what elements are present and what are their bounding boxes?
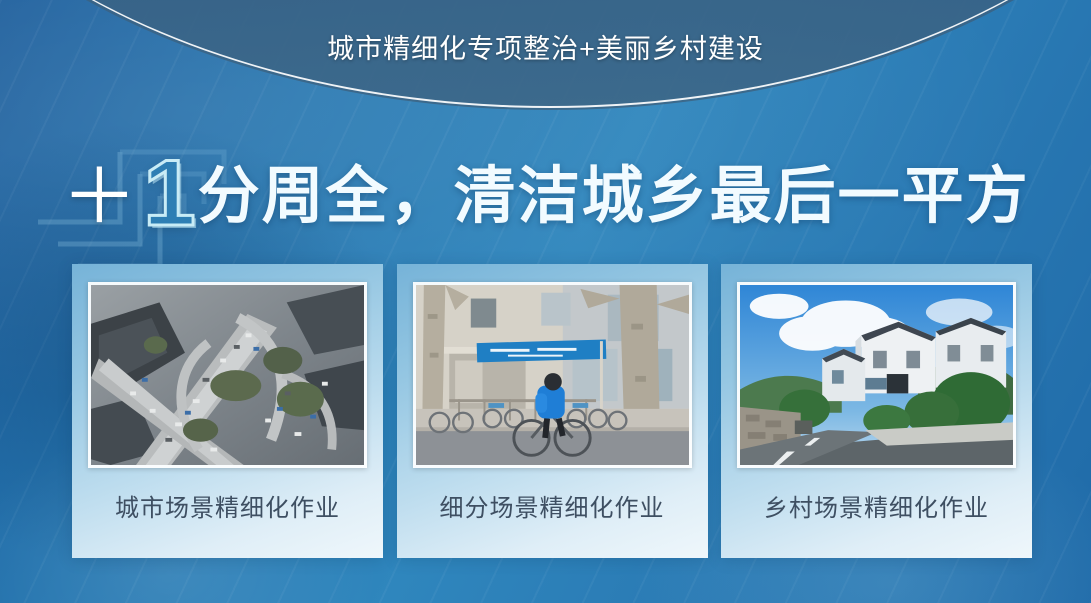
slide-root: 城市精细化专项整治+美丽乡村建设 ＋1分周全，清洁城乡最后一平方: [0, 0, 1091, 603]
headline: ＋1分周全，清洁城乡最后一平方: [0, 146, 1091, 240]
card-city-scene[interactable]: 城市场景精细化作业: [72, 264, 383, 558]
headline-plus-symbol: ＋: [61, 160, 137, 236]
card-caption: 细分场景精细化作业: [397, 488, 708, 523]
aerial-highway-interchange-photo: [88, 282, 367, 468]
card-subdivided-scene[interactable]: 细分场景精细化作业: [397, 264, 708, 558]
card-caption: 乡村场景精细化作业: [721, 488, 1032, 523]
village-white-houses-photo: [737, 282, 1016, 468]
card-village-scene[interactable]: 乡村场景精细化作业: [721, 264, 1032, 558]
street-bicycle-parking-photo: [413, 282, 692, 468]
headline-numeral-one: 1: [143, 146, 195, 240]
headline-text: 分周全，清洁城乡最后一平方: [198, 166, 1030, 228]
card-caption: 城市场景精细化作业: [72, 488, 383, 523]
page-title: 城市精细化专项整治+美丽乡村建设: [0, 27, 1091, 66]
card-list: 城市场景精细化作业: [72, 264, 1032, 558]
